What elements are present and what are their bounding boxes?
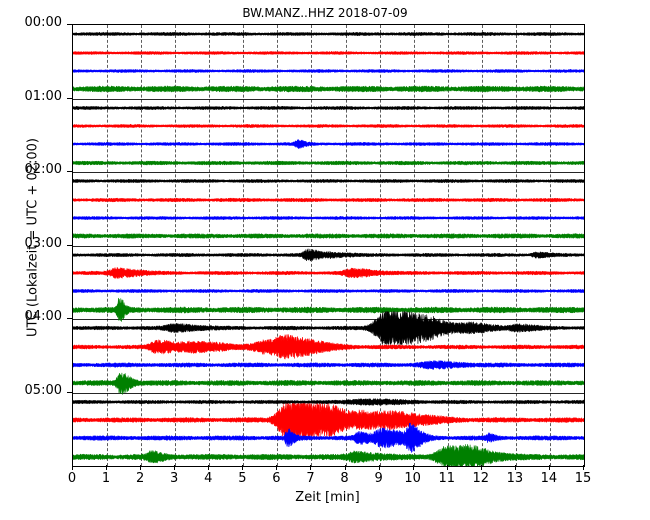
y-axis-tick-label: 02:00 <box>0 162 62 177</box>
y-axis-tick <box>67 318 72 319</box>
x-axis-tick <box>549 465 550 470</box>
plot-inner <box>73 25 584 466</box>
trace-waveform <box>73 444 584 467</box>
plot-area <box>72 24 585 467</box>
x-axis-tick <box>379 465 380 470</box>
y-axis-tick-label: 01:00 <box>0 89 62 104</box>
seismogram-trace <box>73 440 584 467</box>
x-axis-tick <box>413 465 414 470</box>
x-axis-tick <box>345 465 346 470</box>
x-axis-tick <box>447 465 448 470</box>
x-axis-tick-label: 15 <box>563 471 603 486</box>
y-axis-tick-label: 00:00 <box>0 15 62 30</box>
y-axis-tick-label: 04:00 <box>0 309 62 324</box>
x-axis-tick <box>208 465 209 470</box>
x-axis-tick <box>140 465 141 470</box>
seismogram-figure: BW.MANZ..HHZ 2018-07-09 UTC (Lokalzeit =… <box>0 0 650 520</box>
page-title: BW.MANZ..HHZ 2018-07-09 <box>0 6 650 20</box>
y-axis-tick <box>67 24 72 25</box>
x-axis-tick <box>583 465 584 470</box>
x-axis-tick <box>106 465 107 470</box>
y-axis-tick <box>67 245 72 246</box>
y-axis-tick-label: 03:00 <box>0 236 62 251</box>
x-axis-tick <box>310 465 311 470</box>
y-axis-tick <box>67 171 72 172</box>
y-axis-tick <box>67 98 72 99</box>
x-axis-tick <box>242 465 243 470</box>
y-axis-tick <box>67 392 72 393</box>
x-axis-tick <box>276 465 277 470</box>
x-axis-tick <box>515 465 516 470</box>
x-axis-tick <box>174 465 175 470</box>
x-axis-tick <box>481 465 482 470</box>
x-axis-tick <box>72 465 73 470</box>
y-axis-tick-label: 05:00 <box>0 383 62 398</box>
x-axis-label: Zeit [min] <box>72 490 583 505</box>
